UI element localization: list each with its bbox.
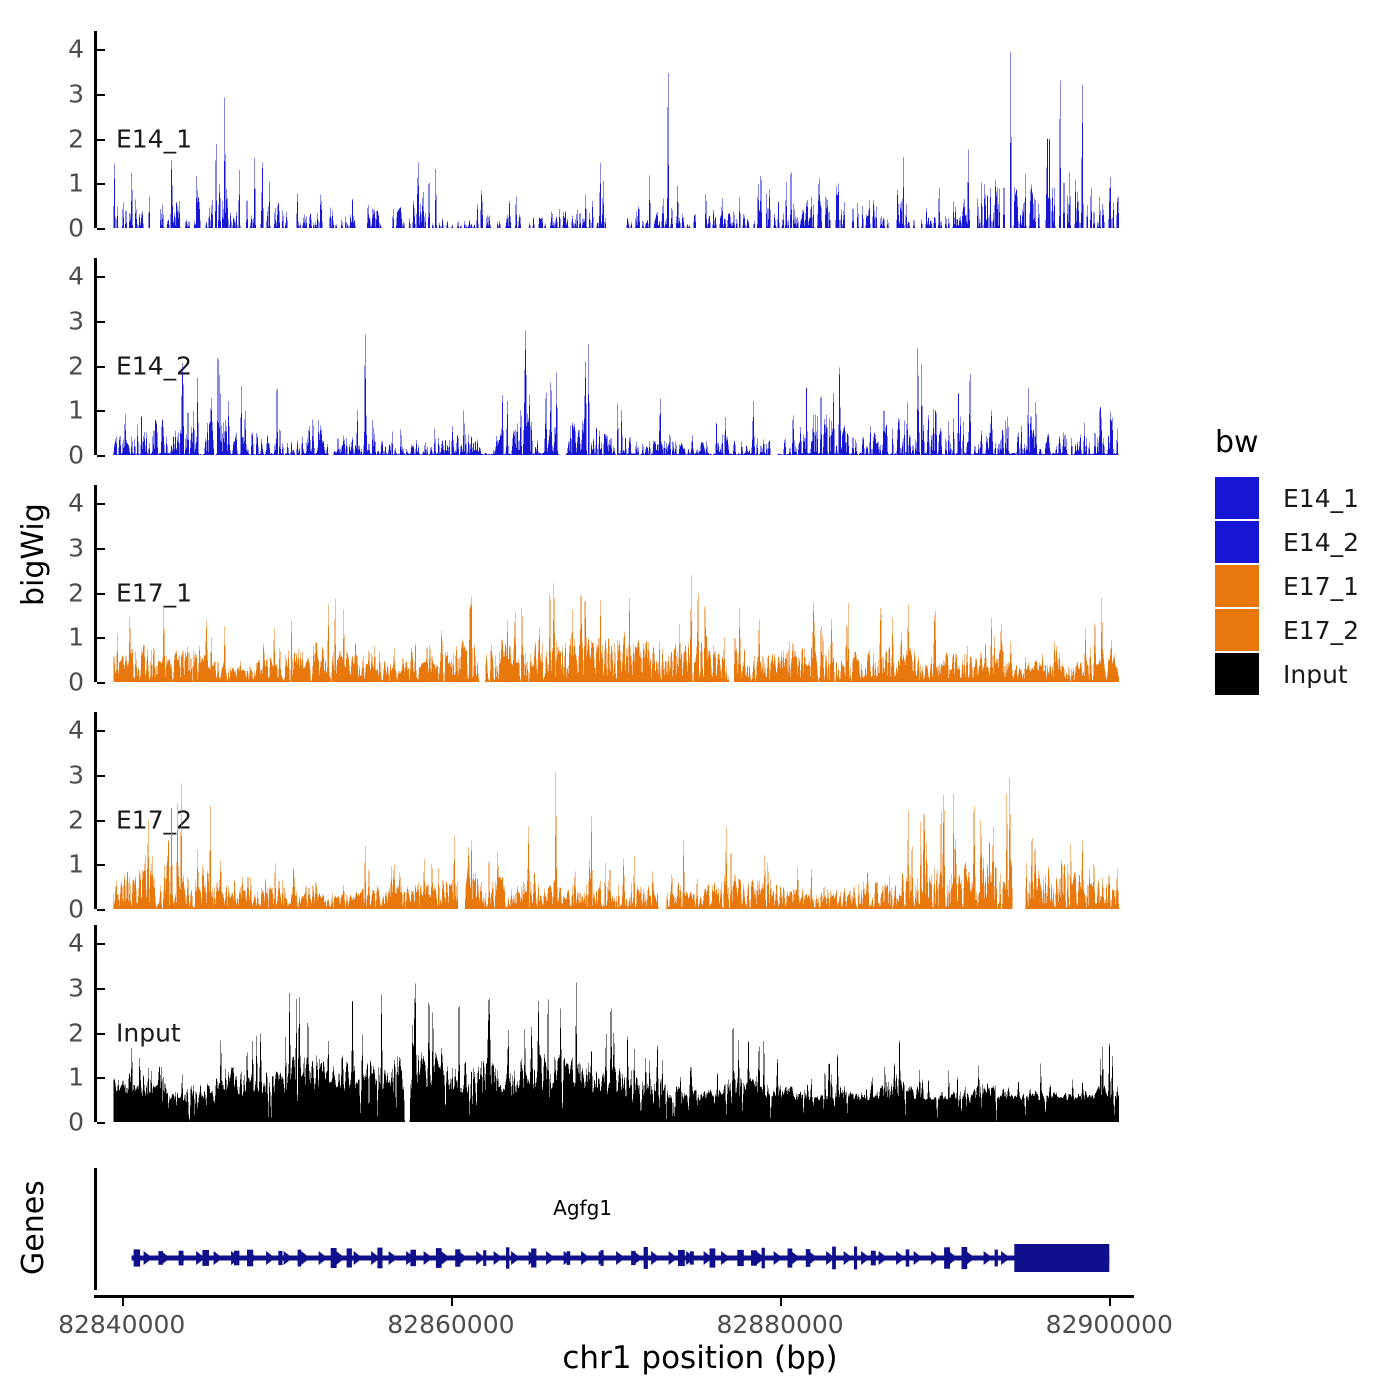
- legend-label-e17_2: E17_2: [1283, 616, 1359, 645]
- x-tick-label-82880000: 82880000: [716, 1310, 843, 1339]
- y-tick-label-e14_2-4: 4: [68, 263, 84, 288]
- signal-panel-e17_2: 01234E17_2: [94, 712, 1134, 909]
- signal-panel-input: 01234Input: [94, 925, 1134, 1122]
- x-tick-82860000: [451, 1298, 453, 1306]
- y-tick-label-e17_2-2: 2: [68, 807, 84, 832]
- y-tick-label-e14_1-2: 2: [68, 126, 84, 151]
- y-tick-e17_2-0: [97, 909, 105, 911]
- y-tick-label-input-0: 0: [68, 1110, 84, 1135]
- y-tick-label-e14_2-3: 3: [68, 308, 84, 333]
- signal-panel-e14_1: 01234E14_1: [94, 31, 1134, 228]
- legend: bw E14_1E14_2E17_1E17_2Input: [1215, 425, 1359, 696]
- gene-track-area[interactable]: [97, 1168, 1134, 1290]
- legend-title: bw: [1215, 425, 1359, 460]
- y-tick-label-e17_1-0: 0: [68, 670, 84, 695]
- x-tick-82840000: [122, 1298, 124, 1306]
- x-tick-label-82840000: 82840000: [58, 1310, 185, 1339]
- legend-swatch-input: [1215, 653, 1259, 695]
- legend-items: E14_1E14_2E17_1E17_2Input: [1215, 476, 1359, 696]
- signal-area-e17_2[interactable]: [97, 712, 1134, 909]
- y-tick-label-e17_1-2: 2: [68, 580, 84, 605]
- signal-area-e14_1[interactable]: [97, 31, 1134, 228]
- signal-area-input[interactable]: [97, 925, 1134, 1122]
- y-tick-label-e14_1-0: 0: [68, 216, 84, 241]
- x-axis-title: chr1 position (bp): [0, 1340, 1400, 1376]
- y-tick-label-e17_1-3: 3: [68, 535, 84, 560]
- y-tick-label-input-1: 1: [68, 1065, 84, 1090]
- legend-item-e14_2[interactable]: E14_2: [1215, 520, 1359, 564]
- y-tick-e17_1-0: [97, 682, 105, 684]
- genes-panel: Agfg1: [94, 1168, 1134, 1290]
- legend-item-e14_1[interactable]: E14_1: [1215, 476, 1359, 520]
- y-axis-title-bigwig: bigWig: [16, 470, 56, 640]
- x-axis-line: [94, 1295, 1134, 1298]
- legend-item-e17_2[interactable]: E17_2: [1215, 608, 1359, 652]
- y-tick-label-e17_1-1: 1: [68, 625, 84, 650]
- x-tick-label-82860000: 82860000: [387, 1310, 514, 1339]
- y-tick-label-e17_2-3: 3: [68, 762, 84, 787]
- x-tick-label-82900000: 82900000: [1046, 1310, 1173, 1339]
- legend-swatch-e14_2: [1215, 521, 1259, 563]
- y-tick-label-e14_1-3: 3: [68, 81, 84, 106]
- y-tick-label-e14_1-4: 4: [68, 36, 84, 61]
- y-tick-label-e17_2-0: 0: [68, 897, 84, 922]
- y-tick-label-input-4: 4: [68, 930, 84, 955]
- y-tick-label-e17_2-1: 1: [68, 852, 84, 877]
- y-tick-label-e17_1-4: 4: [68, 490, 84, 515]
- signal-area-e17_1[interactable]: [97, 485, 1134, 682]
- y-tick-label-input-2: 2: [68, 1020, 84, 1045]
- legend-label-input: Input: [1283, 660, 1348, 689]
- y-axis-title-genes: Genes: [16, 1165, 56, 1290]
- y-tick-label-e14_2-2: 2: [68, 353, 84, 378]
- y-tick-e14_2-0: [97, 455, 105, 457]
- legend-label-e14_1: E14_1: [1283, 484, 1359, 513]
- y-tick-input-0: [97, 1122, 105, 1124]
- legend-swatch-e17_2: [1215, 609, 1259, 651]
- y-tick-label-e14_2-1: 1: [68, 398, 84, 423]
- signal-area-e14_2[interactable]: [97, 258, 1134, 455]
- y-tick-e14_1-0: [97, 228, 105, 230]
- legend-item-input[interactable]: Input: [1215, 652, 1359, 696]
- signal-panel-e14_2: 01234E14_2: [94, 258, 1134, 455]
- y-tick-label-input-3: 3: [68, 975, 84, 1000]
- y-tick-label-e14_2-0: 0: [68, 443, 84, 468]
- y-tick-label-e17_2-4: 4: [68, 717, 84, 742]
- legend-label-e17_1: E17_1: [1283, 572, 1359, 601]
- y-tick-label-e14_1-1: 1: [68, 171, 84, 196]
- x-tick-82900000: [1109, 1298, 1111, 1306]
- legend-swatch-e14_1: [1215, 477, 1259, 519]
- legend-swatch-e17_1: [1215, 565, 1259, 607]
- gene-name-label: Agfg1: [553, 1196, 612, 1220]
- signal-panel-e17_1: 01234E17_1: [94, 485, 1134, 682]
- legend-item-e17_1[interactable]: E17_1: [1215, 564, 1359, 608]
- legend-label-e14_2: E14_2: [1283, 528, 1359, 557]
- x-tick-82880000: [780, 1298, 782, 1306]
